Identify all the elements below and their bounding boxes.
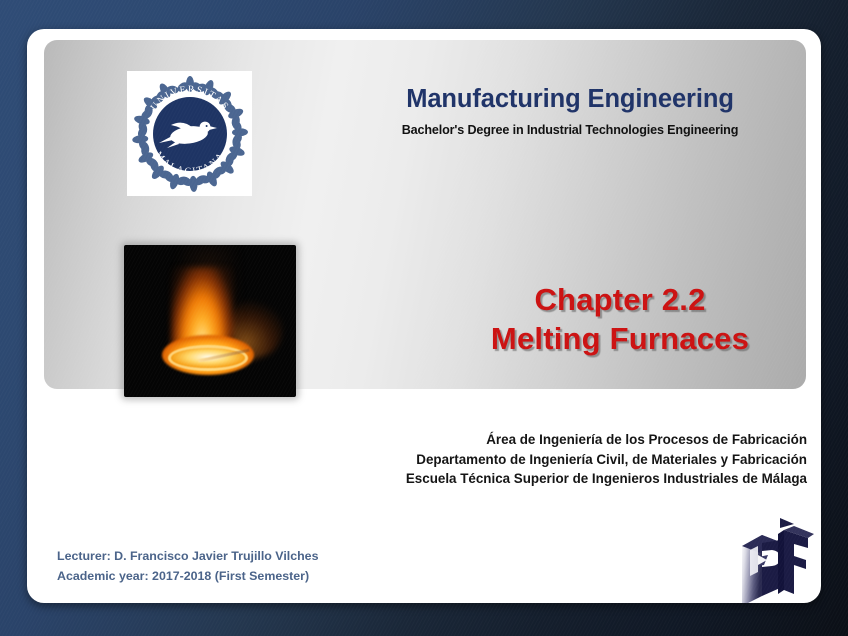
degree-subtitle: Bachelor's Degree in Industrial Technolo… (344, 123, 796, 137)
chapter-name: Melting Furnaces (416, 319, 821, 358)
ipf-monogram-logo-icon (728, 510, 818, 603)
chapter-block: Chapter 2.2 Melting Furnaces (416, 280, 821, 359)
academic-year: Academic year: 2017-2018 (First Semester… (57, 566, 318, 586)
furnace-photo (124, 245, 296, 397)
slide-card: UNIVERSITAS MALACITANA (27, 29, 821, 603)
department-line: Escuela Técnica Superior de Ingenieros I… (147, 469, 807, 489)
slide-background: UNIVERSITAS MALACITANA (0, 0, 848, 636)
lecturer-name: Lecturer: D. Francisco Javier Trujillo V… (57, 546, 318, 566)
department-line: Departamento de Ingeniería Civil, de Mat… (147, 450, 807, 470)
title-block: Manufacturing Engineering Bachelor's Deg… (344, 85, 796, 137)
department-block: Área de Ingeniería de los Procesos de Fa… (147, 430, 807, 489)
lecturer-block: Lecturer: D. Francisco Javier Trujillo V… (57, 546, 318, 586)
department-line: Área de Ingeniería de los Procesos de Fa… (147, 430, 807, 450)
header-panel: UNIVERSITAS MALACITANA (44, 40, 806, 389)
page-title: Manufacturing Engineering (344, 85, 796, 114)
university-seal-icon: UNIVERSITAS MALACITANA (127, 71, 252, 196)
chapter-number: Chapter 2.2 (416, 280, 821, 319)
